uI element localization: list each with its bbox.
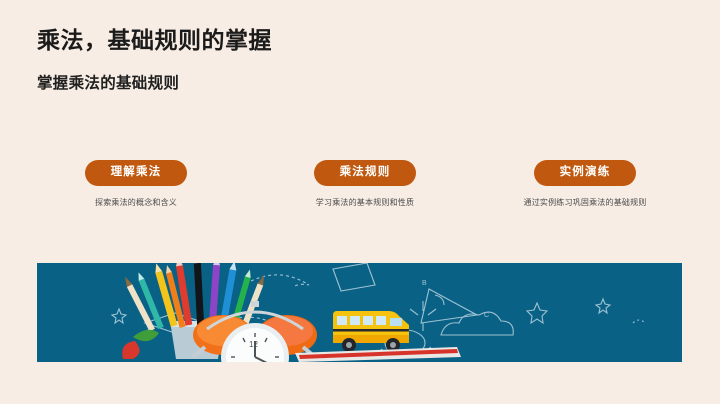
step-pill-label-1[interactable]: 理解乘法	[85, 160, 188, 186]
step-pill-label-2[interactable]: 乘法规则	[314, 160, 417, 186]
page-title: 乘法，基础规则的掌握	[37, 26, 677, 54]
page-subtitle: 掌握乘法的基础规则	[37, 74, 677, 94]
step-caption-1: 探索乘法的概念和含义	[51, 197, 221, 208]
banner-image: B C	[37, 263, 682, 362]
step-item-1[interactable]: 理解乘法 探索乘法的概念和含义	[51, 160, 221, 208]
school-supplies-illustration: B C	[37, 263, 682, 362]
step-caption-3: 通过实例练习巩固乘法的基础规则	[490, 197, 680, 208]
steps-row: 理解乘法 探索乘法的概念和含义 乘法规则 学习乘法的基本规则和性质 实例演练 通…	[0, 160, 720, 220]
slide-canvas: 乘法，基础规则的掌握 掌握乘法的基础规则 理解乘法 探索乘法的概念和含义 乘法规…	[0, 0, 720, 404]
heading-block: 乘法，基础规则的掌握 掌握乘法的基础规则	[37, 26, 677, 94]
svg-text:B: B	[422, 280, 427, 287]
step-item-3[interactable]: 实例演练 通过实例练习巩固乘法的基础规则	[490, 160, 680, 208]
step-item-2[interactable]: 乘法规则 学习乘法的基本规则和性质	[280, 160, 450, 208]
step-caption-2: 学习乘法的基本规则和性质	[280, 197, 450, 208]
step-pill-label-3[interactable]: 实例演练	[534, 160, 637, 186]
svg-text:12: 12	[249, 340, 258, 349]
